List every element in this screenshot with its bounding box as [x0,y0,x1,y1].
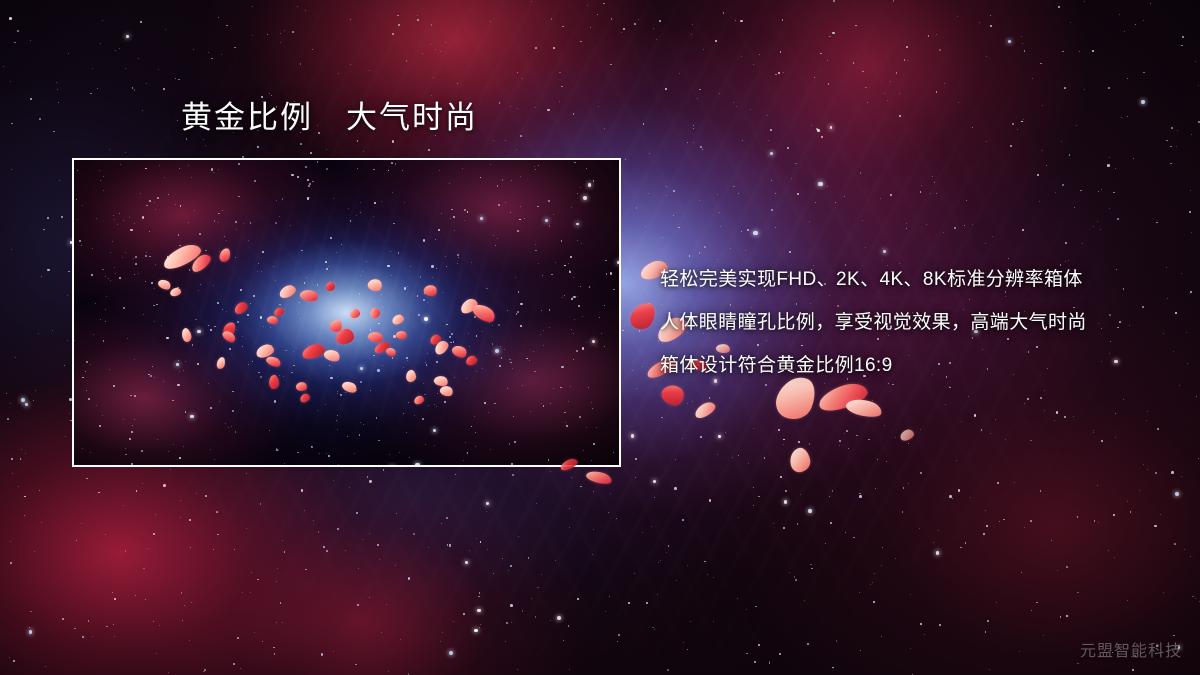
petal [585,469,613,487]
body-copy: 轻松完美实现FHD、2K、4K、8K标准分辨率箱体 人体眼睛瞳孔比例，享受视觉效… [660,258,1180,387]
body-line-2: 人体眼睛瞳孔比例，享受视觉效果，高端大气时尚 [660,301,1180,344]
petal [692,400,717,421]
petal [627,299,659,334]
framed-image-content [74,160,619,465]
petal [899,428,916,442]
petal [788,446,813,474]
presentation-slide: 黄金比例 大气时尚 轻松完美实现FHD、2K、4K、8K标准分辨率箱体 人体眼睛… [0,0,1200,675]
petal [845,396,884,420]
framed-image[interactable] [72,158,621,467]
body-line-1: 轻松完美实现FHD、2K、4K、8K标准分辨率箱体 [660,258,1180,301]
slide-title: 黄金比例 大气时尚 [181,101,478,135]
inner-nebula-filaments [74,160,619,465]
body-line-3: 箱体设计符合黄金比例16:9 [660,344,1180,387]
watermark: 元盟智能科技 [1080,637,1182,661]
